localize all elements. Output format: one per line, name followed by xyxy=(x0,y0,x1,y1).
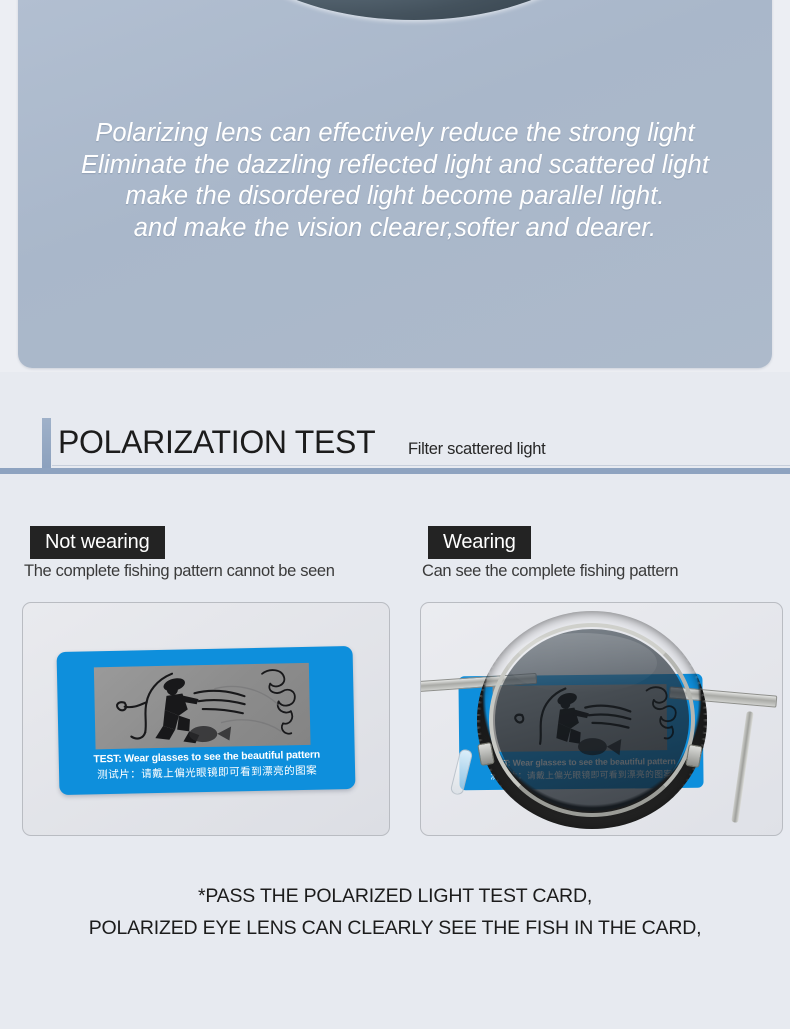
comparison-section: Not wearing The complete fishing pattern… xyxy=(0,474,790,1029)
footer-line-2: POLARIZED EYE LENS CAN CLEARLY SEE THE F… xyxy=(0,912,790,944)
badge-wearing-row: Wearing xyxy=(428,526,531,559)
lens-highlight xyxy=(507,633,657,693)
photo-card-not-wearing: TEST: Wear glasses to see the beautiful … xyxy=(22,602,390,836)
photo-card-wearing: TEST: Wear glasses to see the beautiful … xyxy=(420,602,783,836)
lens-sheen-overlay xyxy=(218,0,610,12)
badge-not-wearing: Not wearing xyxy=(30,526,165,559)
title-hairline-divider xyxy=(52,465,790,466)
hero-panel: Polarizing lens can effectively reduce t… xyxy=(18,0,772,368)
product-detail-page: Polarizing lens can effectively reduce t… xyxy=(0,0,790,1029)
footer-line-1: *PASS THE POLARIZED LIGHT TEST CARD, xyxy=(0,880,790,912)
caption-wearing: Can see the complete fishing pattern xyxy=(422,562,678,581)
polarization-test-card: TEST: Wear glasses to see the beautiful … xyxy=(57,646,356,795)
fisherman-drawing-icon xyxy=(94,663,311,749)
hero-line-3: make the disordered light become paralle… xyxy=(18,181,772,213)
hero-description: Polarizing lens can effectively reduce t… xyxy=(18,118,772,244)
section-subtitle: Filter scattered light xyxy=(408,437,545,461)
caption-not-wearing: The complete fishing pattern cannot be s… xyxy=(24,562,335,581)
hero-line-2: Eliminate the dazzling reflected light a… xyxy=(18,150,772,182)
section-title: POLARIZATION TEST xyxy=(58,420,375,464)
title-accent-bar xyxy=(42,418,51,470)
hero-line-1: Polarizing lens can effectively reduce t… xyxy=(18,118,772,150)
footer-statement: *PASS THE POLARIZED LIGHT TEST CARD, POL… xyxy=(0,880,790,944)
badge-not-wearing-row: Not wearing xyxy=(30,526,165,559)
test-card-gray-panel xyxy=(94,663,311,749)
hero-section: Polarizing lens can effectively reduce t… xyxy=(0,0,790,372)
hero-line-4: and make the vision clearer,softer and d… xyxy=(18,213,772,245)
eyeglass-temple-tip xyxy=(731,711,754,823)
badge-wearing: Wearing xyxy=(428,526,531,559)
